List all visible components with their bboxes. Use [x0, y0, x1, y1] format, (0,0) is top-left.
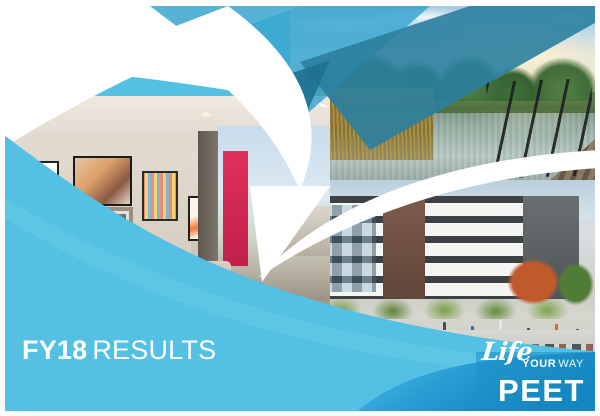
left-margin	[0, 0, 5, 416]
logo-brand-peet: PEET	[468, 375, 585, 406]
cover-title: FY18RESULTS	[22, 337, 216, 364]
bottom-margin	[0, 411, 600, 416]
right-margin	[595, 0, 600, 416]
report-cover: FY18RESULTS Life YOURWAY PEET	[0, 0, 600, 416]
peet-logo: Life YOURWAY PEET	[468, 339, 586, 406]
title-word-results: RESULTS	[92, 335, 216, 365]
top-margin	[0, 0, 600, 6]
logo-tagline-way: WAY	[558, 358, 584, 370]
title-fiscal-year: FY18	[22, 335, 87, 365]
